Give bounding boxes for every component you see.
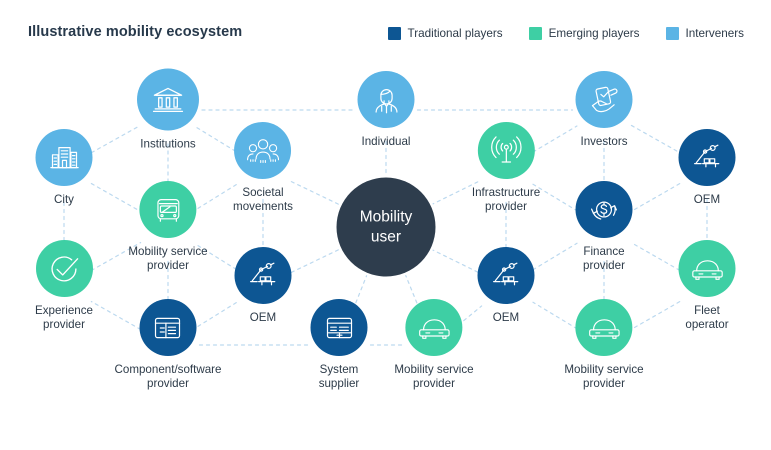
window-icon [139,299,196,356]
edge-institutions-societal-movements [197,128,236,152]
node-label-societal-movements: Societal movements [233,186,293,214]
antenna-icon [478,122,535,179]
edge-investors-oem-right [631,125,679,152]
buildings-icon [36,129,93,186]
node-oem-left[interactable]: OEM [235,247,292,325]
robot-arm-icon [235,247,292,304]
edge-fleet-operator-finance-provider [631,243,679,271]
edge-oem-left-hub [291,250,338,273]
node-system-supplier[interactable]: System supplier [311,299,368,391]
hub-label: Mobility user [360,207,413,247]
ecosystem-diagram: Illustrative mobility ecosystem Traditio… [0,0,771,450]
car-icon [406,299,463,356]
node-finance-provider[interactable]: Finance provider [576,181,633,273]
car-icon [679,240,736,297]
dollar-cycle-icon [576,181,633,238]
edge-oem-right-finance-provider [631,184,679,212]
node-label-oem-right: OEM [694,193,720,207]
node-mobility-service-3[interactable]: Mobility service provider [564,299,643,391]
node-city[interactable]: City [36,129,93,207]
node-label-fleet-operator: Fleet operator [685,304,728,332]
node-oem-right[interactable]: OEM [679,129,736,207]
node-label-investors: Investors [580,135,627,149]
edge-oem-bottom-finance-provider [533,243,577,270]
node-experience-provider[interactable]: Experience provider [35,240,93,332]
person-icon [358,71,415,128]
node-label-finance-provider: Finance provider [583,245,625,273]
node-label-institutions: Institutions [140,138,195,152]
node-label-infrastructure: Infrastructure provider [472,186,540,214]
node-societal-movements[interactable]: Societal movements [233,122,293,214]
node-individual[interactable]: Individual [358,71,415,149]
node-label-experience-provider: Experience provider [35,304,93,332]
robot-arm-icon [679,129,736,186]
bank-icon [137,69,199,131]
node-component-software[interactable]: Component/software provider [115,299,222,391]
robot-arm-icon [478,247,535,304]
node-label-oem-bottom: OEM [493,311,519,325]
hub-disc: Mobility user [337,178,436,277]
node-investors[interactable]: Investors [576,71,633,149]
node-label-component-software: Component/software provider [115,363,222,391]
window-plus-icon [311,299,368,356]
node-label-mobility-service-3: Mobility service provider [564,363,643,391]
node-institutions[interactable]: Institutions [137,69,199,152]
hand-phone-icon [576,71,633,128]
node-fleet-operator[interactable]: Fleet operator [679,240,736,332]
edge-societal-movements-hub [291,182,338,205]
hub-node-mobility-user[interactable]: Mobility user [337,178,436,277]
edge-oem-bottom-hub [433,250,478,272]
node-oem-bottom[interactable]: OEM [478,247,535,325]
edge-city-institutions [92,127,139,153]
check-icon [35,240,92,297]
bus-icon [140,181,197,238]
node-label-oem-left: OEM [250,311,276,325]
node-mobility-service-2[interactable]: Mobility service provider [394,299,473,391]
node-label-city: City [54,193,74,207]
node-label-system-supplier: System supplier [319,363,360,391]
node-label-mobility-service-2: Mobility service provider [394,363,473,391]
node-label-mobility-service-1: Mobility service provider [128,245,207,273]
car-icon [576,299,633,356]
people-icon [234,122,291,179]
node-infrastructure[interactable]: Infrastructure provider [472,122,540,214]
node-label-individual: Individual [362,135,411,149]
node-mobility-service-1[interactable]: Mobility service provider [128,181,207,273]
